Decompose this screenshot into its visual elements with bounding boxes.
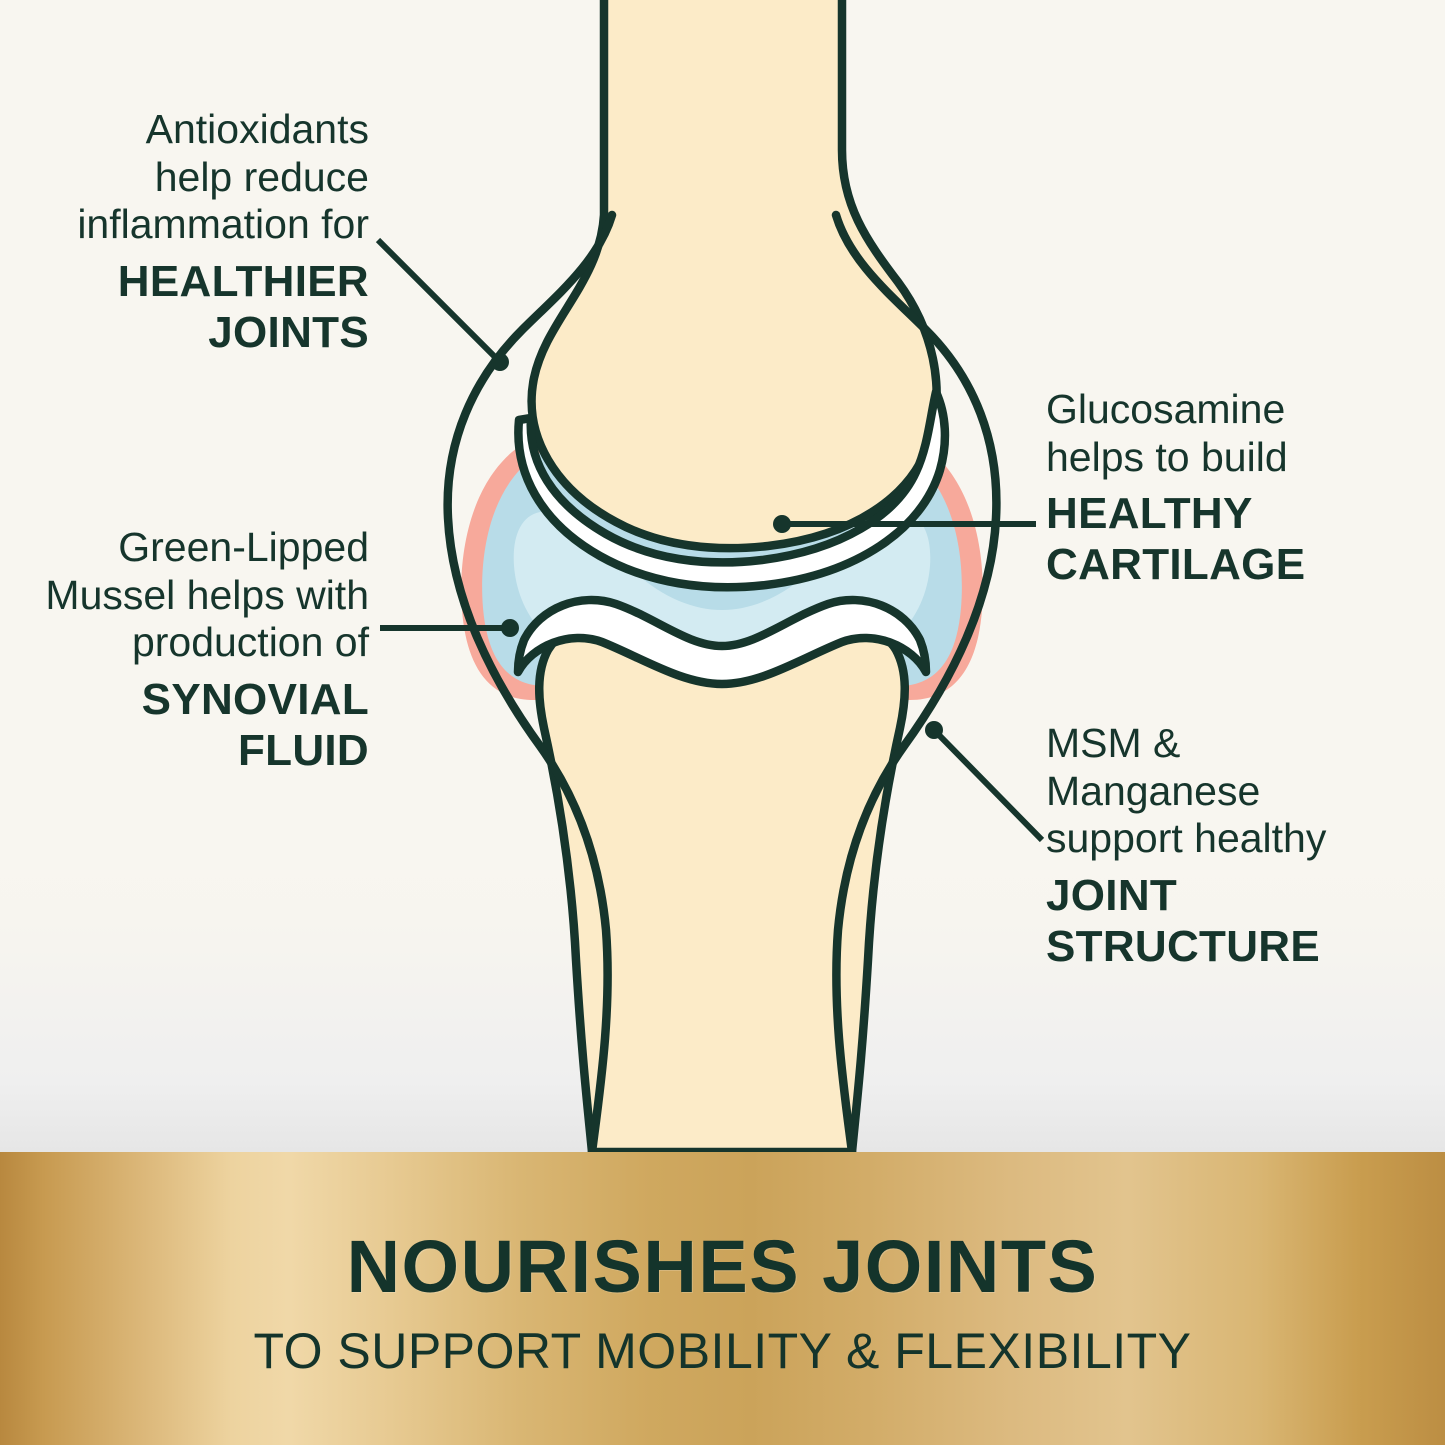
leader-dot-synovial-fluid: [501, 619, 519, 637]
callout-msm-line-3: support healthy: [1046, 815, 1386, 863]
leader-line-healthier-joints: [378, 240, 498, 360]
callout-glucosamine-strong-1: HEALTHY: [1046, 488, 1386, 539]
callout-antioxidants-strong-2: JOINTS: [24, 307, 369, 358]
leader-dot-joint-structure: [925, 721, 943, 739]
callout-msm-strong-2: STRUCTURE: [1046, 921, 1386, 972]
callout-mussel-emphasis: SYNOVIAL FLUID: [14, 674, 369, 776]
callout-msm-manganese: MSM & Manganese support healthy JOINT ST…: [1046, 720, 1386, 972]
callout-antioxidants-line-1: Antioxidants: [24, 106, 369, 154]
callout-antioxidants-strong-1: HEALTHIER: [24, 256, 369, 307]
callout-glucosamine-strong-2: CARTILAGE: [1046, 539, 1386, 590]
banner-headline: NOURISHES JOINTS: [347, 1230, 1099, 1304]
callout-msm-line-2: Manganese: [1046, 768, 1386, 816]
callout-antioxidants-emphasis: HEALTHIER JOINTS: [24, 256, 369, 358]
callout-glucosamine-line-1: Glucosamine: [1046, 386, 1386, 434]
leader-line-joint-structure: [936, 732, 1042, 840]
callout-msm-strong-1: JOINT: [1046, 870, 1386, 921]
callout-msm-line-1: MSM &: [1046, 720, 1386, 768]
callout-mussel-line-1: Green-Lipped: [14, 524, 369, 572]
callout-antioxidants-line-2: help reduce: [24, 154, 369, 202]
callout-mussel-line-3: production of: [14, 619, 369, 667]
infographic-canvas: Antioxidants help reduce inflammation fo…: [0, 0, 1445, 1445]
gold-banner: NOURISHES JOINTS TO SUPPORT MOBILITY & F…: [0, 1152, 1445, 1445]
lower-bone-tibia: [539, 624, 905, 1152]
banner-subheadline: TO SUPPORT MOBILITY & FLEXIBILITY: [253, 1326, 1191, 1376]
leader-dot-healthier-joints: [491, 353, 509, 371]
callout-mussel-strong-1: SYNOVIAL: [14, 674, 369, 725]
callout-green-lipped-mussel: Green-Lipped Mussel helps with productio…: [14, 524, 369, 776]
callout-mussel-strong-2: FLUID: [14, 725, 369, 776]
gold-banner-content: NOURISHES JOINTS TO SUPPORT MOBILITY & F…: [0, 1152, 1445, 1445]
callout-glucosamine-emphasis: HEALTHY CARTILAGE: [1046, 488, 1386, 590]
callout-glucosamine: Glucosamine helps to build HEALTHY CARTI…: [1046, 386, 1386, 590]
callout-antioxidants-line-3: inflammation for: [24, 201, 369, 249]
callout-mussel-line-2: Mussel helps with: [14, 572, 369, 620]
leader-dot-healthy-cartilage: [773, 515, 791, 533]
callout-antioxidants: Antioxidants help reduce inflammation fo…: [24, 106, 369, 358]
callout-glucosamine-line-2: helps to build: [1046, 434, 1386, 482]
callout-msm-emphasis: JOINT STRUCTURE: [1046, 870, 1386, 972]
